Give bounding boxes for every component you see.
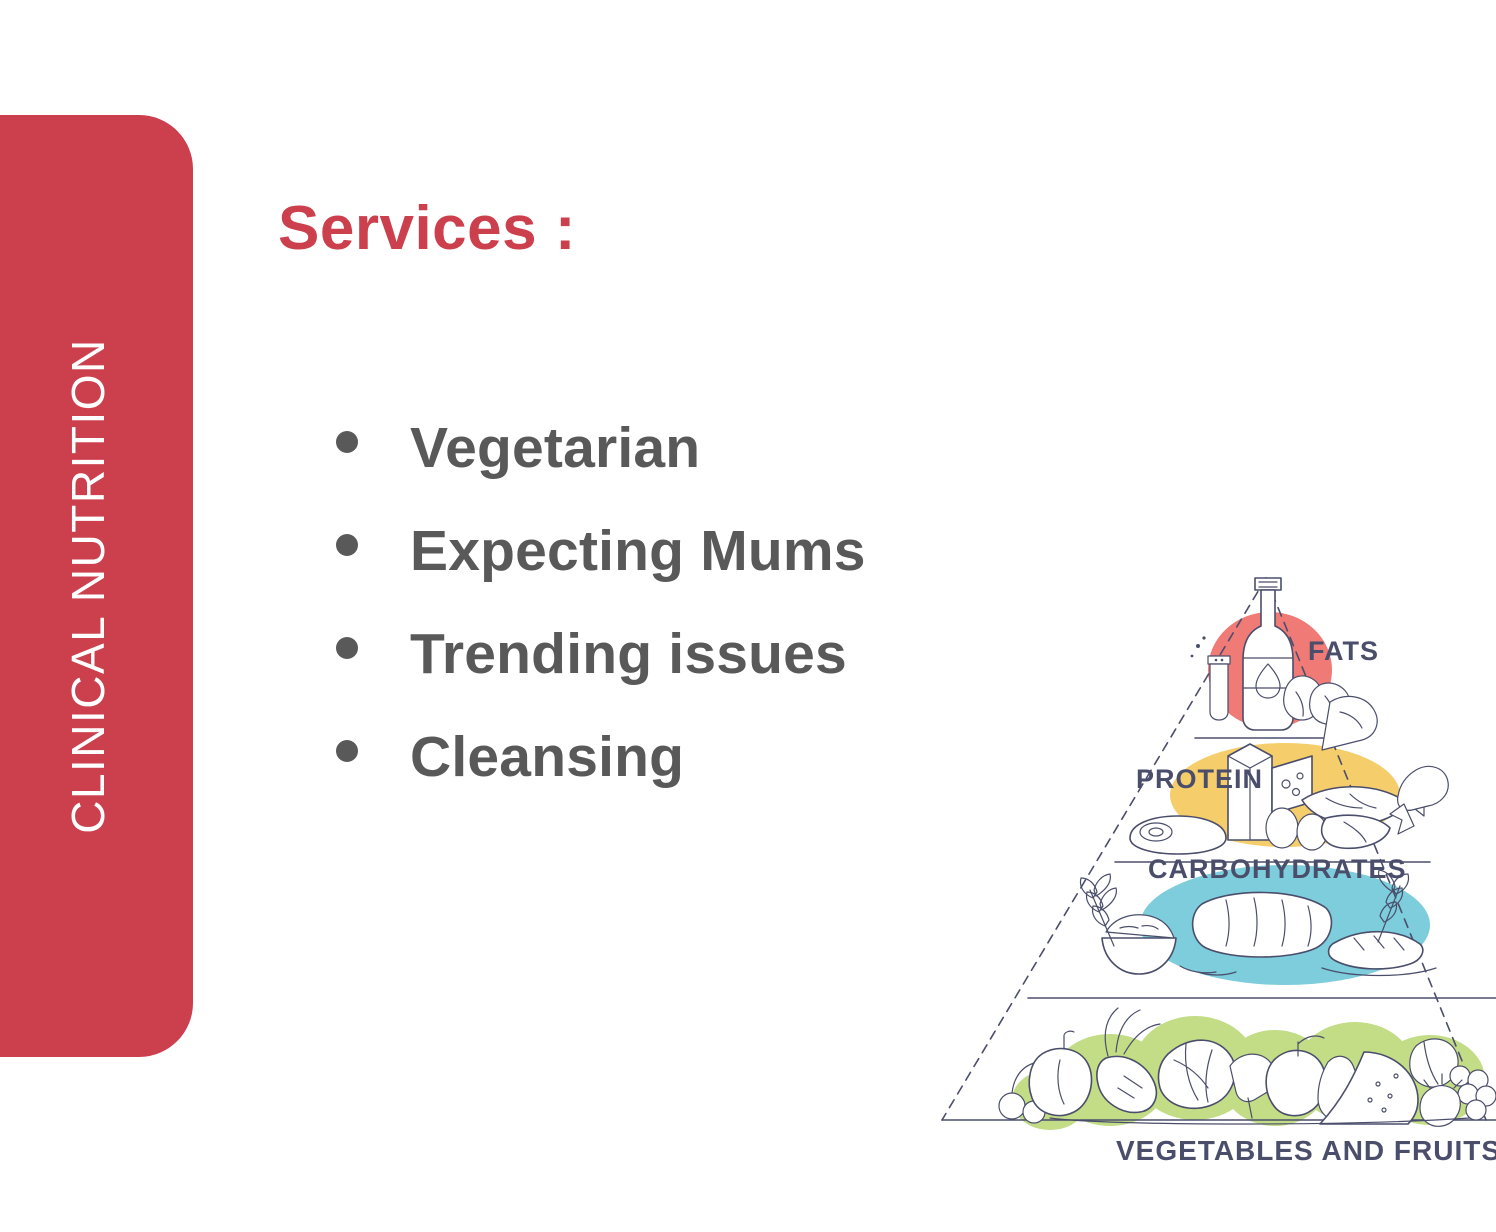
list-item-label: Expecting Mums <box>410 523 866 580</box>
sidebar-vertical-tab: CLINICAL NUTRITION <box>0 115 193 1057</box>
list-item-label: Trending issues <box>410 626 847 683</box>
page-title: Services : <box>278 196 1038 261</box>
bullet-dot-icon <box>336 431 358 453</box>
fats-tier-artwork: FATS <box>1191 578 1379 750</box>
slide-canvas: CLINICAL NUTRITION Services : Vegetarian… <box>0 0 1496 1232</box>
vegetables-and-fruits-label: VEGETABLES AND FRUITS <box>1116 1135 1496 1166</box>
sidebar-label-wrapper: CLINICAL NUTRITION <box>0 115 193 1057</box>
content-block: Services : <box>278 196 1038 261</box>
bullet-dot-icon <box>336 637 358 659</box>
sidebar-vertical-label: CLINICAL NUTRITION <box>61 338 115 834</box>
list-item-label: Cleansing <box>410 729 684 786</box>
bullet-dot-icon <box>336 740 358 762</box>
carbohydrates-label: CARBOHYDRATES <box>1148 854 1407 884</box>
list-item-label: Vegetarian <box>410 420 700 477</box>
fats-label: FATS <box>1308 636 1379 666</box>
food-pyramid-illustration: .ln { fill:none; stroke:#4a4e6b; stroke-… <box>930 560 1496 1232</box>
list-item: Vegetarian <box>336 420 1096 477</box>
bullet-dot-icon <box>336 534 358 556</box>
protein-label: PROTEIN <box>1136 764 1263 794</box>
